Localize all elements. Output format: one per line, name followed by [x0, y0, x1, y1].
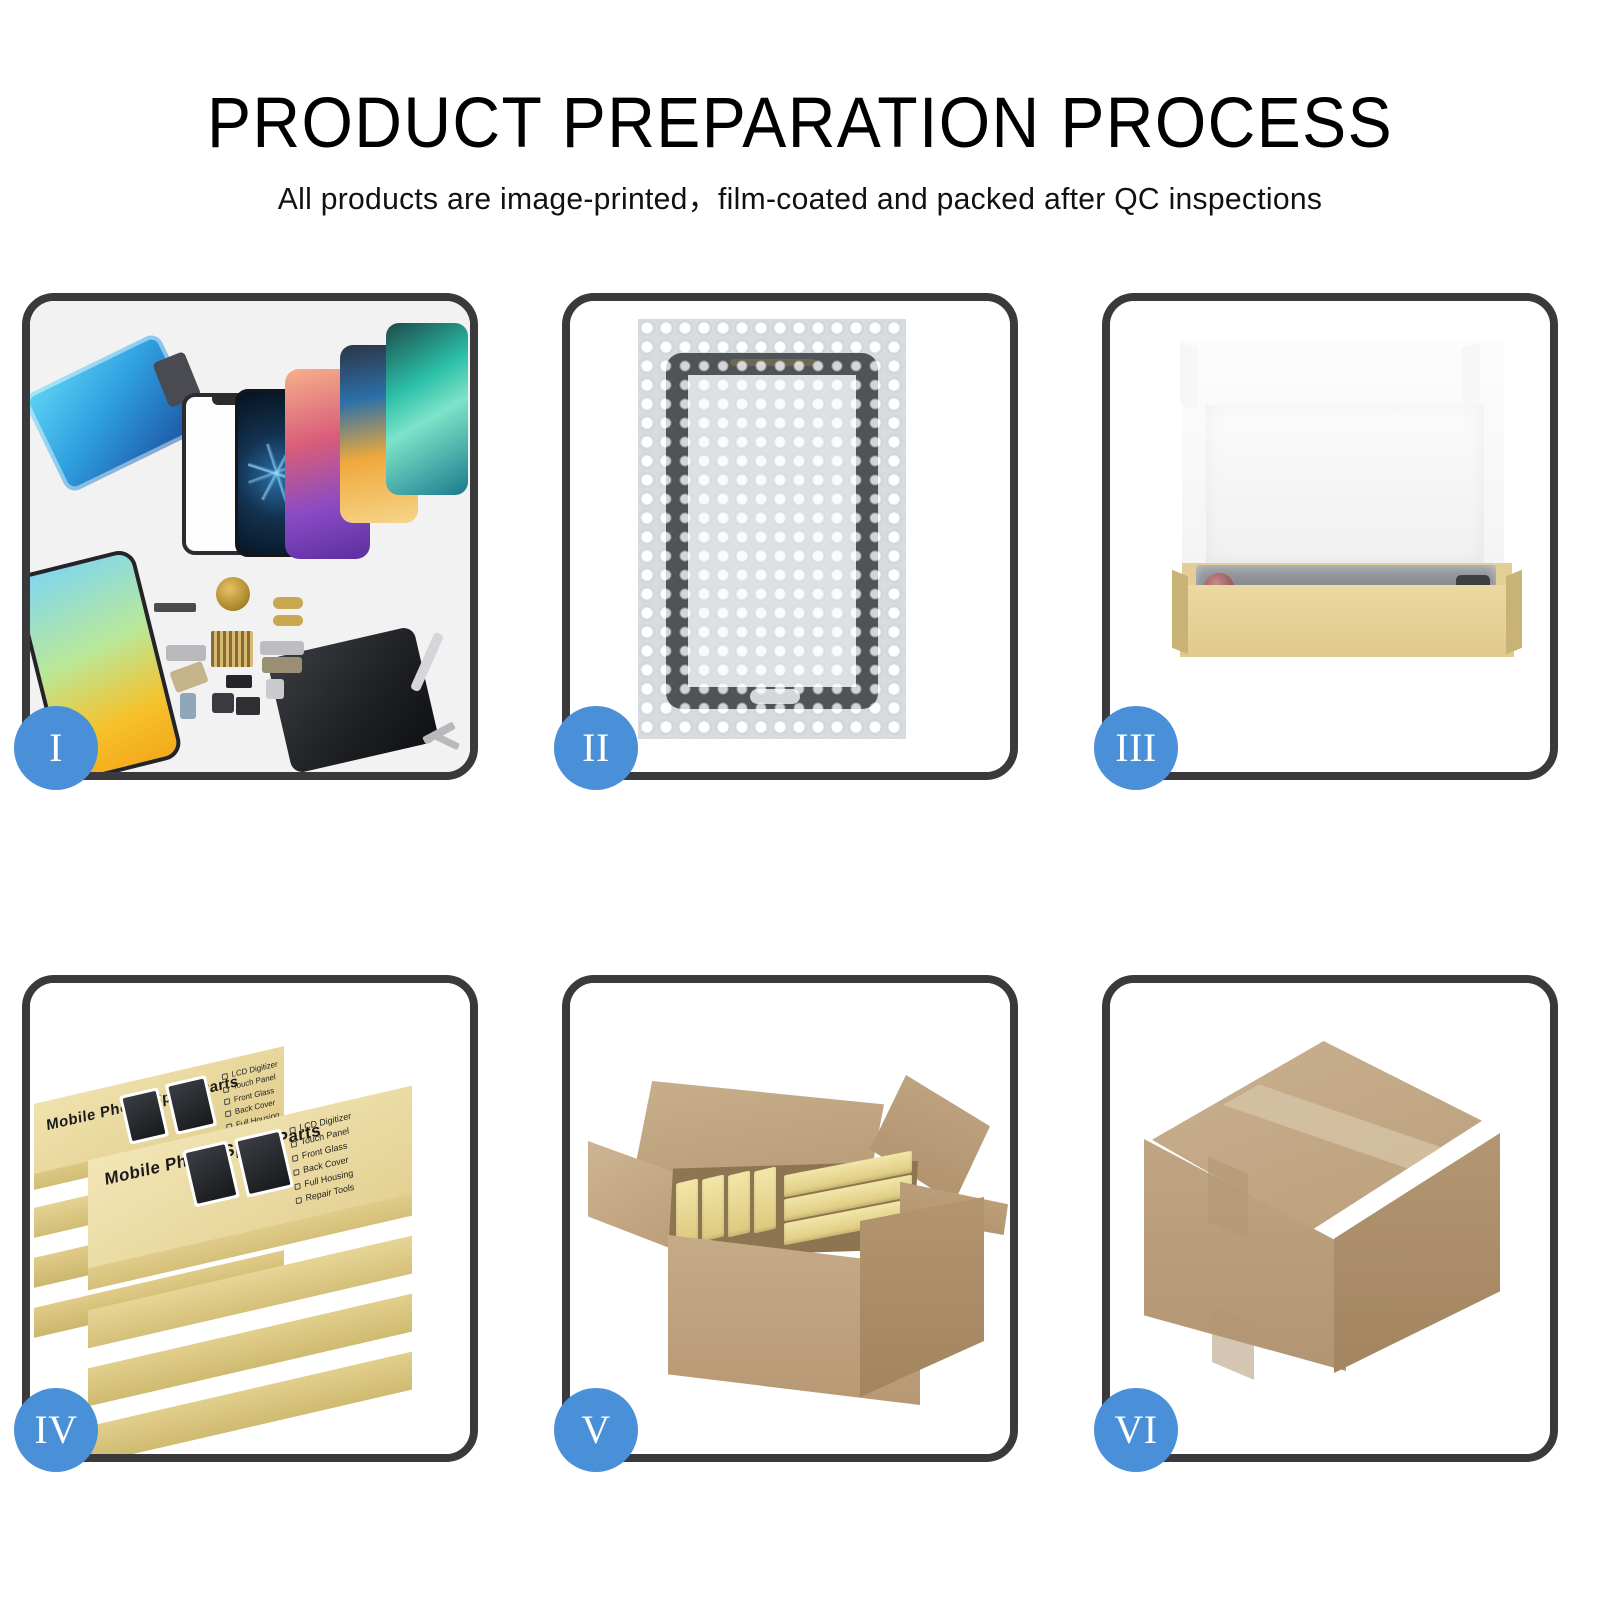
box-checklist: LCD Digitizer Touch Panel Front Glass Ba…: [289, 1110, 358, 1208]
step-3-image: [1110, 301, 1550, 772]
checkbox-icon: [223, 1086, 229, 1093]
checkbox-icon: [291, 1141, 297, 1148]
box-tray-left-edge-icon: [1172, 570, 1188, 654]
step-4-image: Mobile Phone Spare Parts LCD Digitizer T…: [30, 983, 470, 1454]
step-badge-6: VI: [1094, 1388, 1178, 1472]
connector-part-icon: [166, 645, 206, 661]
box-stack-illustration: Mobile Phone Spare Parts LCD Digitizer T…: [30, 983, 470, 1454]
packed-box-icon: [728, 1170, 750, 1237]
foam-insert-icon: [1206, 405, 1484, 565]
step-badge-2: II: [554, 706, 638, 790]
ic-chip-icon: [226, 675, 252, 688]
checkbox-icon: [225, 1110, 231, 1117]
ribbon-cable-icon: [169, 661, 208, 693]
page-title: PRODUCT PREPARATION PROCESS: [56, 88, 1544, 159]
carton-side-face-icon: [860, 1197, 984, 1397]
step-badge-4: IV: [14, 1388, 98, 1472]
checkbox-icon: [224, 1098, 230, 1105]
power-flex-icon: [262, 657, 302, 673]
speaker-part-icon: [154, 603, 196, 612]
bubble-sheen-overlay: [638, 319, 906, 739]
step-2-image: [570, 301, 1010, 772]
step-6-image: [1110, 983, 1550, 1454]
box-tray-front-icon: [1180, 585, 1514, 657]
antenna-part-icon: [260, 641, 304, 655]
parts-collage-illustration: [30, 301, 470, 772]
step-1-image: [30, 301, 470, 772]
box-lid-left-flap-icon: [1180, 342, 1198, 410]
step-panel-2: II: [562, 293, 1018, 780]
camera-module-icon: [266, 679, 284, 699]
box-tray-right-edge-icon: [1506, 570, 1522, 654]
checkbox-icon: [296, 1197, 302, 1204]
header: PRODUCT PREPARATION PROCESS All products…: [0, 0, 1600, 214]
taptic-engine-icon: [236, 697, 260, 715]
checkbox-icon: [289, 1126, 295, 1133]
checkbox-icon: [222, 1073, 228, 1080]
packed-box-icon: [702, 1174, 724, 1241]
step-panel-1: I: [22, 293, 478, 780]
step-panel-4: Mobile Phone Spare Parts LCD Digitizer T…: [22, 975, 478, 1462]
step-panel-6: VI: [1102, 975, 1558, 1462]
chip-grid-icon: [211, 631, 253, 667]
checkbox-icon: [292, 1155, 298, 1162]
page-subtitle: All products are image-printed，film-coat…: [24, 183, 1576, 214]
packed-box-icon: [754, 1166, 776, 1233]
step-panel-3: III: [1102, 293, 1558, 780]
bubble-wrap-illustration: [638, 319, 906, 739]
phone-back-cover-blue-icon: [30, 332, 204, 495]
step-badge-5: V: [554, 1388, 638, 1472]
vibration-motor-icon: [216, 577, 250, 611]
step-5-image: [570, 983, 1010, 1454]
checkbox-icon: [293, 1169, 299, 1176]
flex-cable-icon: [273, 597, 303, 609]
sim-tray-icon: [180, 693, 196, 719]
packed-box-icon: [676, 1178, 698, 1245]
step-badge-3: III: [1094, 706, 1178, 790]
speaker-module-icon: [212, 693, 234, 713]
box-lid-right-flap-icon: [1462, 342, 1480, 410]
flex-cable-icon: [273, 615, 303, 626]
step-badge-1: I: [14, 706, 98, 790]
open-carton-illustration: [570, 983, 1010, 1454]
phone-wave-screen-icon: [386, 323, 468, 495]
step-panel-5: V: [562, 975, 1018, 1462]
checkbox-icon: [294, 1183, 300, 1190]
